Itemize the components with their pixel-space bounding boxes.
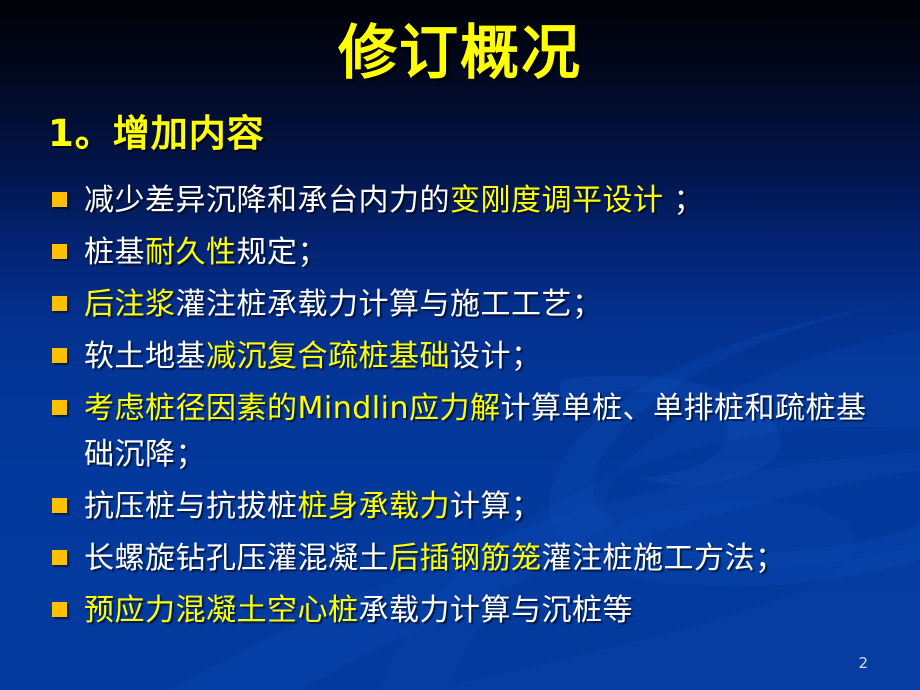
bullet-square-icon [52,400,67,415]
plain-text: 规定； [237,235,329,270]
list-item-label: 长螺旋钻孔压灌混凝土后插钢筋笼灌注桩施工方法； [84,536,892,582]
list-item-label: 软土地基减沉复合疏桩基础设计； [84,334,892,380]
plain-text: 抗压桩与抗拔桩 [84,489,298,524]
highlighted-text: 减沉复合疏桩基础 [206,339,450,374]
slide-title: 修订概况 [0,22,920,84]
slide-subtitle: 1。增加内容 [48,103,265,157]
bullet-square-icon [52,244,67,259]
highlighted-text: 预应力混凝土空心桩 [84,593,359,628]
plain-text: ； [664,183,705,218]
bullet-square-icon [52,498,67,513]
bullet-square-icon [52,192,67,207]
list-item-label: 后注浆灌注桩承载力计算与施工工艺； [84,282,892,328]
highlighted-text: 后注浆 [84,287,176,322]
bullet-square-icon [52,550,67,565]
highlighted-text: 桩身承载力 [298,489,451,524]
list-item-label: 桩基耐久性规定； [84,230,892,276]
highlighted-text: 后插钢筋笼 [389,541,542,576]
bullet-square-icon [52,296,67,311]
plain-text: 灌注桩承载力计算与施工工艺； [176,287,603,322]
list-item: 桩基耐久性规定； [52,230,892,276]
plain-text: 承载力计算与沉桩等 [359,593,634,628]
highlighted-text: 考虑桩径因素的Mindlin应力解 [84,391,500,426]
plain-text: 减少差异沉降和承台内力的 [84,183,450,218]
list-item: 后注浆灌注桩承载力计算与施工工艺； [52,282,892,328]
plain-text: 计算； [450,489,542,524]
plain-text: 灌注桩施工方法； [542,541,786,576]
plain-text: 桩基 [84,235,145,270]
bullet-square-icon [52,348,67,363]
bullet-list: 减少差异沉降和承台内力的变刚度调平设计 ；桩基耐久性规定；后注浆灌注桩承载力计算… [52,178,892,640]
list-item: 预应力混凝土空心桩承载力计算与沉桩等 [52,588,892,634]
list-item: 软土地基减沉复合疏桩基础设计； [52,334,892,380]
list-item-label: 减少差异沉降和承台内力的变刚度调平设计 ； [84,178,892,224]
bullet-square-icon [52,602,67,617]
plain-text: 设计； [450,339,542,374]
list-item: 减少差异沉降和承台内力的变刚度调平设计 ； [52,178,892,224]
page-number: 2 [858,654,868,672]
list-item-label: 抗压桩与抗拔桩桩身承载力计算； [84,484,892,530]
list-item-label: 预应力混凝土空心桩承载力计算与沉桩等 [84,588,892,634]
list-item: 考虑桩径因素的Mindlin应力解计算单桩、单排桩和疏桩基础沉降； [52,386,892,478]
list-item: 长螺旋钻孔压灌混凝土后插钢筋笼灌注桩施工方法； [52,536,892,582]
plain-text: 长螺旋钻孔压灌混凝土 [84,541,389,576]
list-item-label: 考虑桩径因素的Mindlin应力解计算单桩、单排桩和疏桩基础沉降； [84,386,892,478]
plain-text: 软土地基 [84,339,206,374]
highlighted-text: 耐久性 [145,235,237,270]
presentation-slide: 修订概况 1。增加内容 减少差异沉降和承台内力的变刚度调平设计 ；桩基耐久性规定… [0,0,920,690]
highlighted-text: 变刚度调平设计 [450,183,664,218]
list-item: 抗压桩与抗拔桩桩身承载力计算； [52,484,892,530]
